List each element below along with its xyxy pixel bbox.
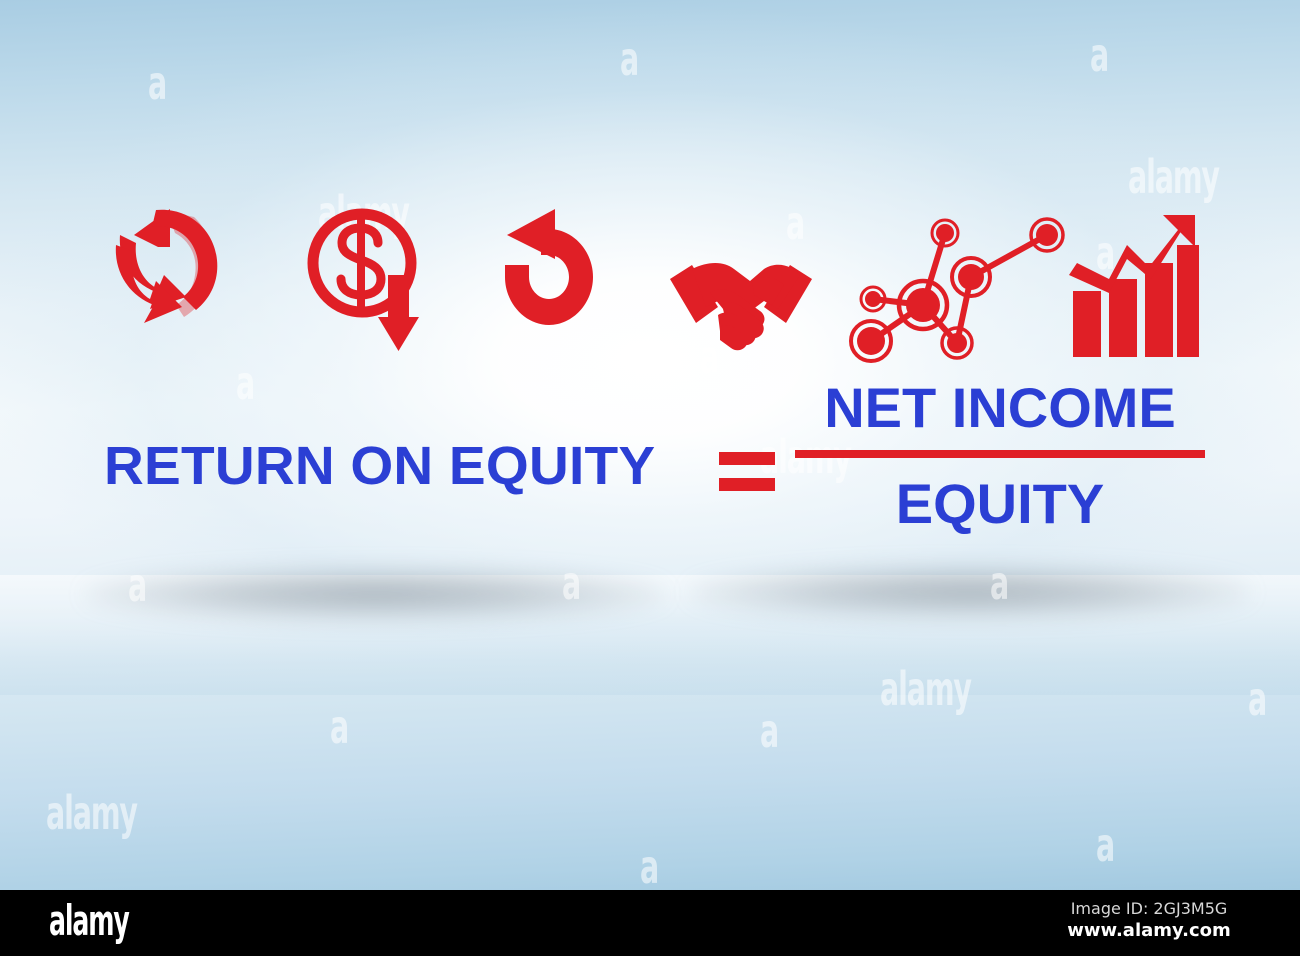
growth-bar-chart-icon [1065,205,1201,370]
formula-fraction: NET INCOME EQUITY [790,380,1210,532]
watermark-tile: a [760,704,778,758]
watermark-tile: a [128,558,146,612]
watermark-tile: a [620,32,638,86]
watermark-tile: a [148,56,166,110]
screenshot-root: aaaalamyaalamyaaalamyaaaaaalamyaaaalamya… [0,0,1300,956]
watermark-tile: alamy [880,662,971,716]
concept-icon-row [100,205,1210,370]
fraction-denominator: EQUITY [790,476,1210,532]
watermark-tile: alamy [1128,150,1219,204]
alamy-logo: alamy [49,896,129,945]
content-drop-shadow-left [85,568,665,620]
rotate-counterclockwise-icon [485,205,611,370]
watermark-tile: a [1248,672,1266,726]
roe-formula: RETURN ON EQUITY NET INCOME EQUITY [0,380,1300,560]
watermark-tile: a [640,840,658,890]
refresh-cycle-arrows-icon [112,205,222,370]
watermark-tile: alamy [46,786,137,840]
alamy-footer-bar: alamy Image ID: 2GJ3M5G www.alamy.com [0,890,1300,956]
stock-photo-canvas: aaaalamyaalamyaaalamyaaaaaalamyaaaalamya… [0,0,1300,890]
formula-left-side: RETURN ON EQUITY [104,435,655,497]
watermark-tile: a [990,556,1008,610]
dollar-decline-icon [300,205,436,370]
footer-credit-block: Image ID: 2GJ3M5G www.alamy.com [1044,898,1254,942]
network-graph-icon [845,205,1073,370]
equals-bar-top [719,452,775,465]
watermark-tile: a [562,556,580,610]
equals-sign-icon [719,446,775,492]
watermark-tile: a [330,700,348,754]
alamy-url-label: www.alamy.com [1044,919,1254,942]
handshake-icon [668,205,814,370]
content-drop-shadow-right [690,566,1250,618]
equals-bar-bottom [719,478,775,491]
horizon-band [0,575,1300,695]
watermark-tile: a [1096,818,1114,872]
image-id-label: Image ID: 2GJ3M5G [1044,898,1254,919]
fraction-numerator: NET INCOME [790,380,1210,436]
watermark-tile: a [1090,28,1108,82]
fraction-divider-line [795,450,1205,458]
